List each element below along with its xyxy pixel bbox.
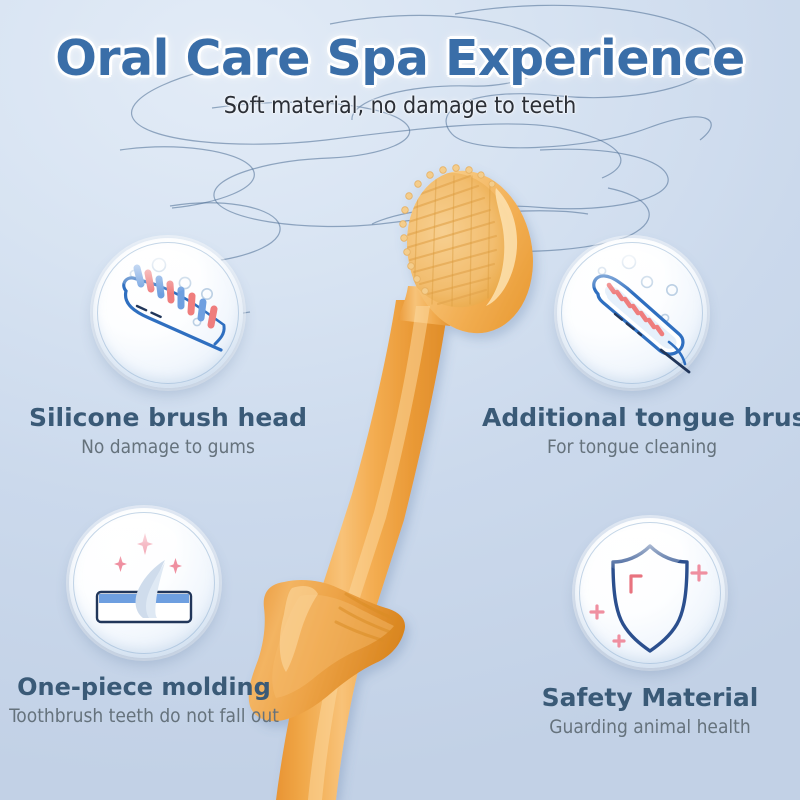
tongue-brush-icon (557, 238, 707, 388)
feature-silicone-brush-head: Silicone brush head No damage to gums (18, 238, 318, 458)
feature-additional-tongue-brush: Additional tongue brush For tongue clean… (482, 238, 782, 458)
feature-subtitle: For tongue cleaning (482, 438, 782, 458)
feature-subtitle: No damage to gums (18, 438, 318, 458)
title-block: Oral Care Spa Experience Soft material, … (0, 34, 800, 118)
feature-icon-orb (69, 508, 219, 658)
page-title: Oral Care Spa Experience (0, 34, 800, 83)
feature-icon-orb (557, 238, 707, 388)
product-feature-poster: Oral Care Spa Experience Soft material, … (0, 0, 800, 800)
feature-safety-material: Safety Material Guarding animal health (500, 518, 800, 738)
feature-icon-orb (575, 518, 725, 668)
feature-title: Safety Material (500, 685, 800, 711)
toothbrush-icon (93, 238, 243, 388)
feature-icon-orb (93, 238, 243, 388)
feature-one-piece-molding: One-piece molding Toothbrush teeth do no… (0, 508, 294, 727)
feature-subtitle: Guarding animal health (500, 718, 800, 738)
feature-title: One-piece molding (0, 675, 294, 700)
shield-icon (575, 518, 725, 668)
feature-subtitle: Toothbrush teeth do not fall out (0, 707, 294, 727)
page-subtitle: Soft material, no damage to teeth (0, 95, 800, 118)
bristle-mold-icon (69, 508, 219, 658)
feature-title: Silicone brush head (18, 405, 318, 431)
feature-title: Additional tongue brush (482, 405, 782, 431)
